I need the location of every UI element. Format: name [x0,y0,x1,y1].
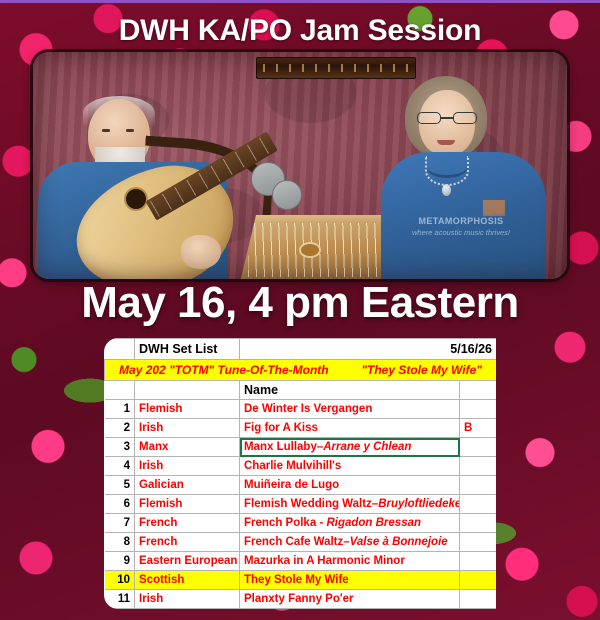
row-overflow-cell[interactable] [460,533,497,552]
row-category-cell[interactable]: Scottish [135,571,240,590]
row-number-cell[interactable]: 2 [105,419,135,438]
butterfly-icon [483,200,505,216]
tune-name-native-text: Arrane y Chlean [323,441,411,453]
row-overflow-cell[interactable] [460,476,497,495]
table-row[interactable]: 5GalicianMuiñeira de Lugo [105,476,497,495]
row-category-cell[interactable]: Flemish [135,495,240,514]
tune-name-text: Planxty Fanny Po'er [244,593,353,605]
shirt-graphic: METAMORPHOSIS where acoustic music thriv… [401,200,521,246]
row-category-cell[interactable]: Manx [135,438,240,457]
setlist-table: DWH Set List 5/16/26 May 202 "TOTM" Tune… [104,338,496,609]
row-number-cell[interactable]: 4 [105,457,135,476]
top-accent-rule [0,0,600,3]
musicians-photo: METAMORPHOSIS where acoustic music thriv… [33,52,567,279]
setlist-column-header-row: Name [105,381,497,400]
row-overflow-cell[interactable] [460,552,497,571]
colhdr-end [460,381,497,400]
row-name-cell[interactable]: Flemish Wedding Waltz–Bruyloftliedeken [240,495,460,514]
table-row[interactable]: 6FlemishFlemish Wedding Waltz–Bruyloftli… [105,495,497,514]
row-overflow-cell[interactable]: B [460,419,497,438]
row-number-cell[interactable]: 11 [105,590,135,609]
tune-name-text: Mazurka in A Harmonic Minor [244,555,405,567]
tune-name-text: Fig for A Kiss [244,422,318,434]
row-name-cell[interactable]: French Cafe Waltz–Valse à Bonnejoie [240,533,460,552]
table-row[interactable]: 11IrishPlanxty Fanny Po'er [105,590,497,609]
row-category-cell[interactable]: Irish [135,457,240,476]
necklace-pendant [442,184,451,196]
tune-name-native-text: Valse à Bonnejoie [350,536,448,548]
table-row[interactable]: 2IrishFig for A KissB [105,419,497,438]
table-row[interactable]: 9Eastern EuropeanMazurka in A Harmonic M… [105,552,497,571]
tune-name-text: De Winter Is Vergangen [244,403,372,415]
row-name-cell[interactable]: French Polka - Rigadon Bressan [240,514,460,533]
row-number-cell[interactable]: 3 [105,438,135,457]
row-name-cell[interactable]: Muiñeira de Lugo [240,476,460,495]
page-title: DWH KA/PO Jam Session [0,14,600,48]
table-row[interactable]: 4IrishCharlie Mulvihill's [105,457,497,476]
man-right-eye [126,129,134,132]
colhdr-name: Name [240,381,460,400]
row-name-cell[interactable]: Charlie Mulvihill's [240,457,460,476]
row-number-cell[interactable]: 10 [105,571,135,590]
setlist-date-cell: 5/16/26 [240,339,497,360]
row-number-cell[interactable]: 5 [105,476,135,495]
tune-name-text: Flemish Wedding Waltz– [244,498,378,510]
row-category-cell[interactable]: Galician [135,476,240,495]
colhdr-num [105,381,135,400]
man-left-eye [102,129,110,132]
shirt-word: METAMORPHOSIS [401,216,521,226]
harp-guitar-headstock-lower [272,180,302,210]
row-name-cell[interactable]: De Winter Is Vergangen [240,400,460,419]
row-overflow-cell[interactable] [460,571,497,590]
row-overflow-cell[interactable] [460,495,497,514]
table-row[interactable]: 3ManxManx Lullaby–Arrane y Chlean [105,438,497,457]
row-category-cell[interactable]: Irish [135,590,240,609]
table-row[interactable]: 7FrenchFrench Polka - Rigadon Bressan [105,514,497,533]
necklace [425,156,469,186]
header-num-cell [105,339,135,360]
tune-name-native-text: Rigadon Bressan [326,517,421,529]
row-category-cell[interactable]: French [135,514,240,533]
jam-session-poster: DWH KA/PO Jam Session [0,0,600,620]
row-overflow-cell[interactable] [460,400,497,419]
row-name-cell[interactable]: Manx Lullaby–Arrane y Chlean [240,438,460,457]
table-row[interactable]: 1FlemishDe Winter Is Vergangen [105,400,497,419]
wall-dulcimer [256,57,416,79]
row-number-cell[interactable]: 6 [105,495,135,514]
tune-name-text: French Polka - [244,517,326,529]
shirt-tagline: where acoustic music thrives! [401,228,521,237]
setlist-table-panel: DWH Set List 5/16/26 May 202 "TOTM" Tune… [104,338,496,609]
table-row[interactable]: 10ScottishThey Stole My Wife [105,571,497,590]
row-category-cell[interactable]: Eastern European [135,552,240,571]
colhdr-category [135,381,240,400]
row-category-cell[interactable]: French [135,533,240,552]
man-fretting-hand [181,235,221,269]
glasses-left-lens [417,112,441,124]
totm-right-text: "They Stole My Wife" [361,363,482,377]
eyeglasses-icon [417,112,477,124]
tune-of-the-month-row: May 202 "TOTM" Tune-Of-The-Month "They S… [105,360,497,381]
dulcimer-rosette [301,244,319,256]
glasses-right-lens [453,112,477,124]
table-row[interactable]: 8FrenchFrench Cafe Waltz–Valse à Bonnejo… [105,533,497,552]
event-dateline: May 16, 4 pm Eastern [0,278,600,328]
row-category-cell[interactable]: Irish [135,419,240,438]
row-name-cell[interactable]: Mazurka in A Harmonic Minor [240,552,460,571]
tune-name-text: Muiñeira de Lugo [244,479,339,491]
tune-name-text: French Cafe Waltz– [244,536,350,548]
row-number-cell[interactable]: 8 [105,533,135,552]
row-overflow-cell[interactable] [460,514,497,533]
row-name-cell[interactable]: They Stole My Wife [240,571,460,590]
tune-name-text: Manx Lullaby– [244,441,323,453]
row-number-cell[interactable]: 1 [105,400,135,419]
row-number-cell[interactable]: 9 [105,552,135,571]
glasses-bridge [441,117,453,119]
row-category-cell[interactable]: Flemish [135,400,240,419]
row-overflow-cell[interactable] [460,457,497,476]
row-name-cell[interactable]: Planxty Fanny Po'er [240,590,460,609]
tune-name-text: They Stole My Wife [244,574,349,586]
tune-name-native-text: Bruyloftliedeken [378,498,459,510]
row-number-cell[interactable]: 7 [105,514,135,533]
tune-name-text: Charlie Mulvihill's [244,460,341,472]
totm-cell: May 202 "TOTM" Tune-Of-The-Month "They S… [105,360,497,381]
row-overflow-cell[interactable] [460,438,497,457]
totm-left-text: May 202 "TOTM" Tune-Of-The-Month [119,363,329,377]
woman-mouth [437,140,455,145]
setlist-header-row: DWH Set List 5/16/26 [105,339,497,360]
row-name-cell[interactable]: Fig for A Kiss [240,419,460,438]
hammered-dulcimer [240,215,400,279]
setlist-title-cell: DWH Set List [135,339,240,360]
row-overflow-cell[interactable] [460,590,497,609]
